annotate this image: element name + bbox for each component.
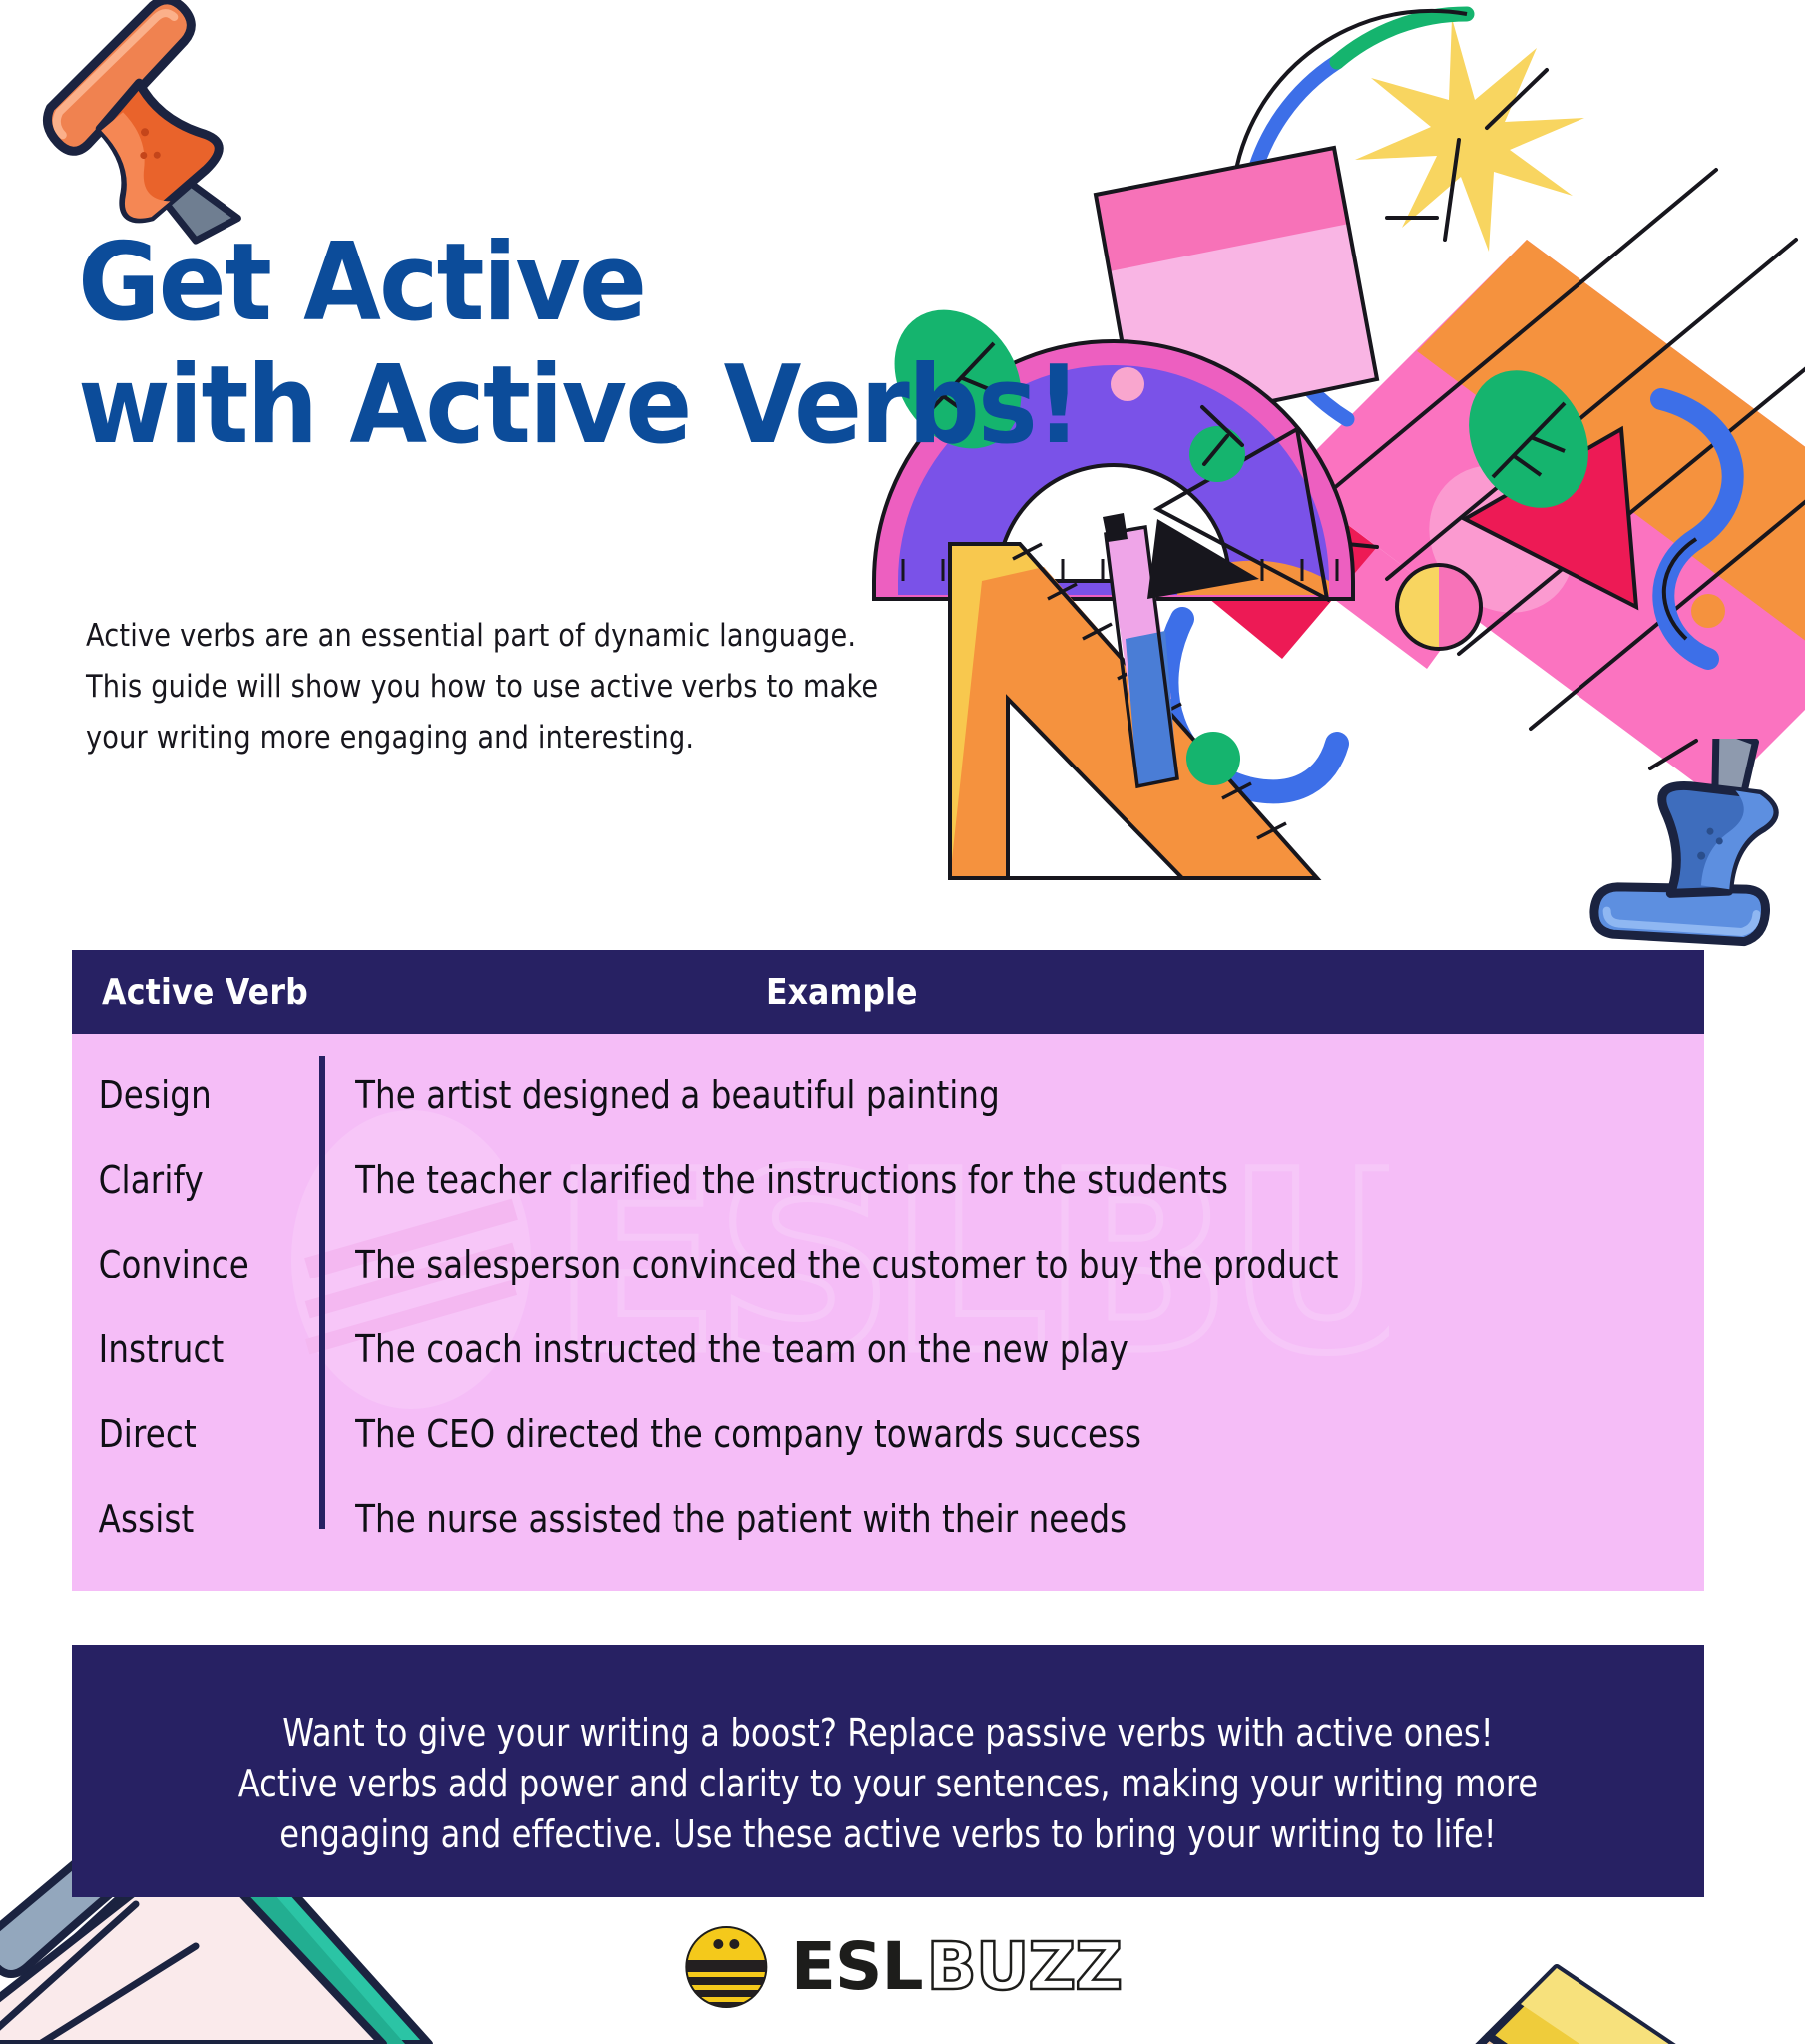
crimson-triangle-icon [1465,429,1636,607]
pen-icon [1103,513,1177,786]
verb-cell: Clarify [72,1158,307,1202]
verbs-table: Active Verb Example ESLBUZZ Design The a… [72,950,1704,1591]
example-cell: The nurse assisted the patient with thei… [319,1497,1635,1541]
callout-text: Want to give your writing a boost? Repla… [233,1708,1543,1861]
column-header-example: Example [430,972,1623,1013]
example-cell: The salesperson convinced the customer t… [319,1243,1635,1286]
infographic-poster: Get Active with Active Verbs! Active ver… [0,0,1805,2044]
star-icon [1355,18,1584,252]
bee-icon [683,1924,769,2010]
title-line-2: with Active Verbs! [78,344,1145,467]
pushpin-orange-icon [0,0,279,250]
example-cell: The coach instructed the team on the new… [319,1327,1635,1371]
example-cell: The artist designed a beautiful painting [319,1073,1635,1117]
logo-buzz-text: BUZZ [927,1934,1123,2000]
black-triangle-icon [1147,429,1327,599]
pencil-yellow-icon [1457,1968,1805,2044]
logo-esl-text: ESL [791,1934,923,2000]
table-row: Instruct The coach instructed the team o… [72,1306,1704,1391]
title-line-1: Get Active [78,222,1145,344]
big-pencil-icon [1197,170,1805,798]
arc-ring-icon [1246,14,1467,419]
column-header-verb: Active Verb [102,972,318,1013]
table-row: Convince The salesperson convinced the c… [72,1222,1704,1306]
table-row: Assist The nurse assisted the patient wi… [72,1476,1704,1561]
yellow-circle-icon [1397,565,1481,649]
table-row: Clarify The teacher clarified the instru… [72,1137,1704,1222]
blue-squiggle-icon [1661,399,1733,659]
blue-hook-icon [1166,619,1337,791]
verb-cell: Design [72,1073,307,1117]
intro-paragraph: Active verbs are an essential part of dy… [86,611,910,764]
example-cell: The teacher clarified the instructions f… [319,1158,1635,1202]
verb-cell: Assist [72,1497,307,1541]
logo-wordmark: ESL BUZZ [791,1934,1122,2000]
callout-panel: Want to give your writing a boost? Repla… [72,1645,1704,1897]
table-body: ESLBUZZ Design The artist designed a bea… [72,1034,1704,1591]
green-dot-icon [1189,426,1245,482]
table-header-row: Active Verb Example [72,950,1704,1034]
green-dot-icon-2 [1186,732,1240,785]
page-title: Get Active with Active Verbs! [78,222,1145,467]
orange-dot-icon [1691,594,1725,628]
leaf-icon-2 [1446,349,1611,529]
stationery-illustration-top [0,0,1805,938]
verb-cell: Direct [72,1412,307,1456]
triangle-ruler-icon [950,544,1317,878]
verb-cell: Convince [72,1243,307,1286]
table-column-divider [319,1056,325,1529]
eslbuzz-logo[interactable]: ESL BUZZ [683,1924,1122,2010]
table-row: Direct The CEO directed the company towa… [72,1391,1704,1476]
example-cell: The CEO directed the company towards suc… [319,1412,1635,1456]
table-row: Design The artist designed a beautiful p… [72,1052,1704,1137]
verb-cell: Instruct [72,1327,307,1371]
